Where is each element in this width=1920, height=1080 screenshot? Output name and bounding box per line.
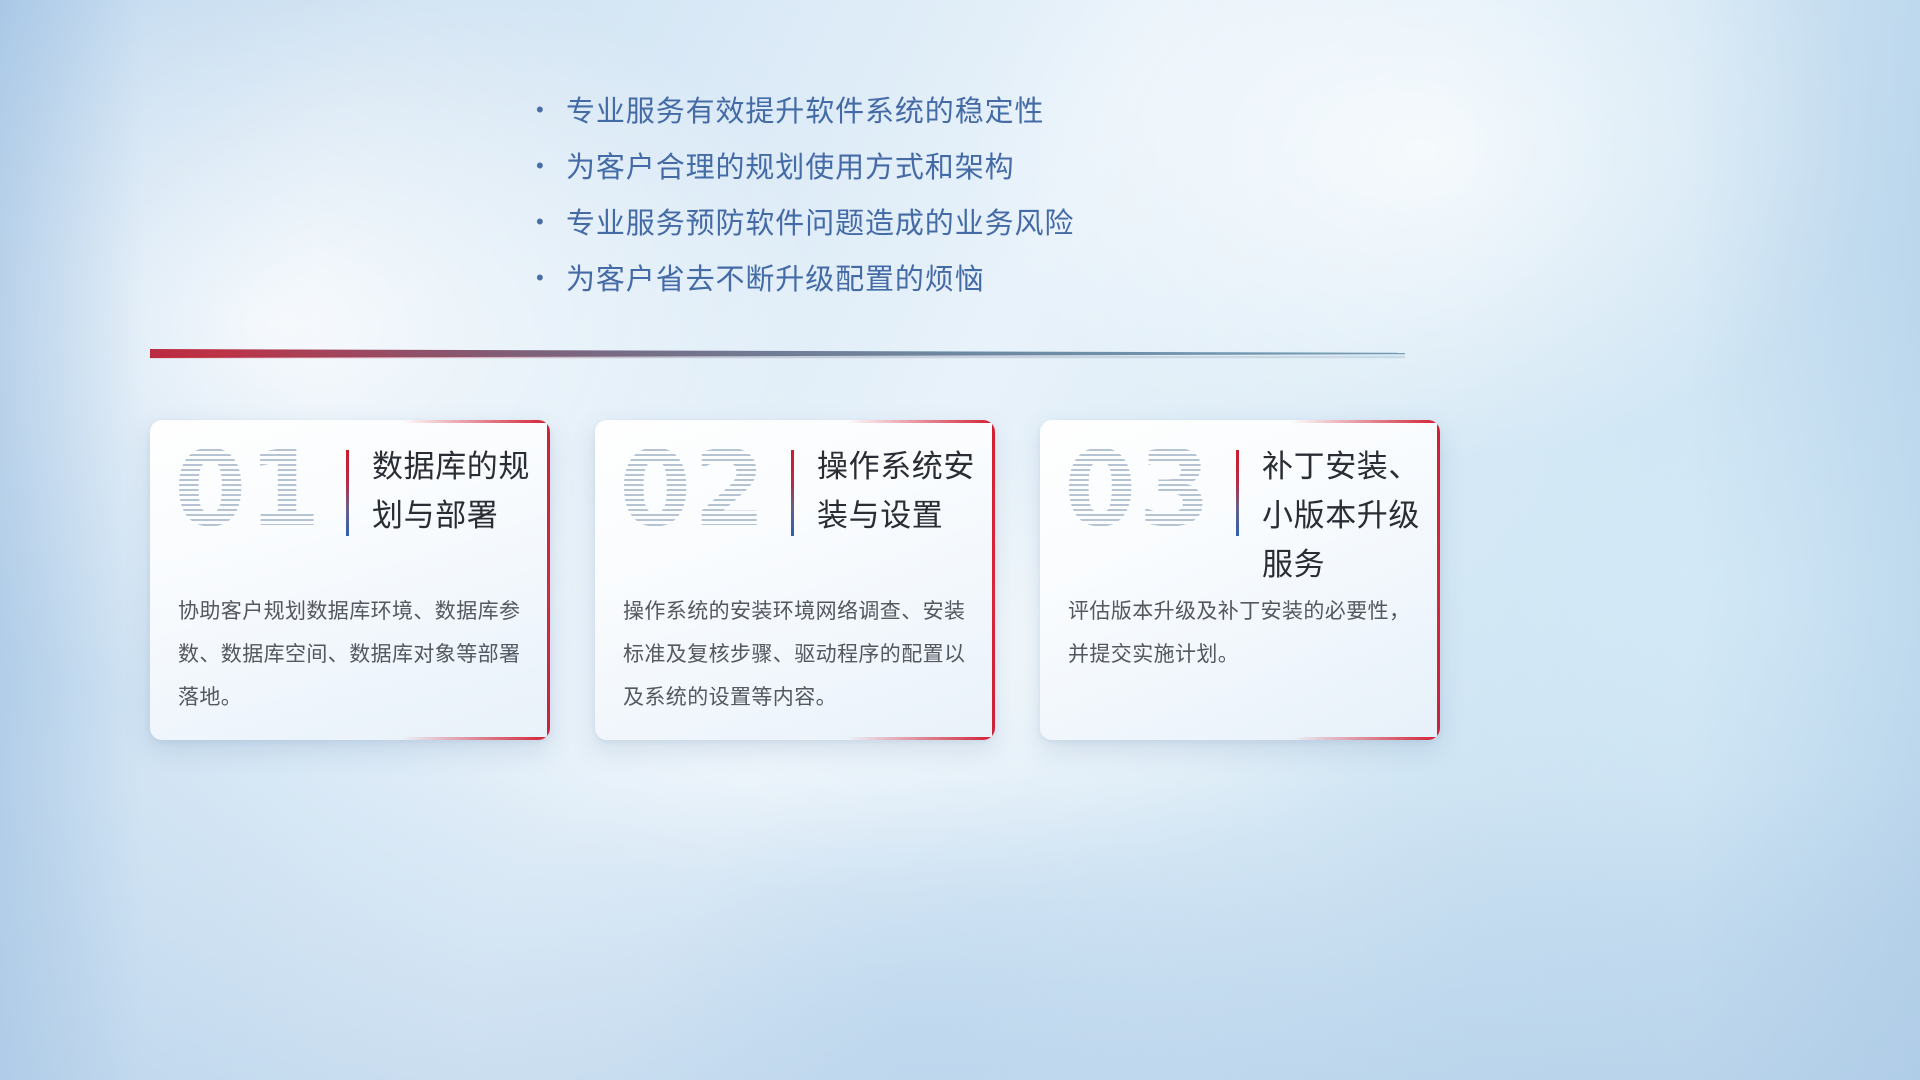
card-number-watermark: 02	[619, 434, 768, 544]
bullet-item-1: • 专业服务有效提升软件系统的稳定性	[536, 86, 1436, 138]
card-title: 补丁安装、小版本升级服务	[1262, 442, 1432, 589]
slide-root: • 专业服务有效提升软件系统的稳定性 • 为客户合理的规划使用方式和架构 • 专…	[0, 0, 1920, 1080]
bullet-list: • 专业服务有效提升软件系统的稳定性 • 为客户合理的规划使用方式和架构 • 专…	[536, 86, 1436, 310]
card-title-rule	[791, 450, 794, 536]
bullet-label: 为客户省去不断升级配置的烦恼	[566, 254, 985, 306]
card-title-rule	[1236, 450, 1239, 536]
bullet-label: 为客户合理的规划使用方式和架构	[566, 142, 1015, 194]
card-header: 01 数据库的规划与部署	[150, 420, 550, 570]
card-title-rule	[346, 450, 349, 536]
background-bottom-band	[0, 780, 1920, 1080]
card-red-edge-bottom	[1292, 737, 1440, 740]
bullet-item-4: • 为客户省去不断升级配置的烦恼	[536, 254, 1436, 306]
background-wash-right	[1460, 0, 1920, 1080]
card-red-edge-bottom	[847, 737, 995, 740]
bullet-dot-icon: •	[536, 99, 566, 121]
card-description: 操作系统的安装环境网络调查、安装标准及复核步骤、驱动程序的配置以及系统的设置等内…	[623, 590, 971, 719]
card-header: 02 操作系统安装与设置	[595, 420, 995, 570]
divider-hairline	[150, 356, 1405, 358]
bullet-item-2: • 为客户合理的规划使用方式和架构	[536, 142, 1436, 194]
bullet-dot-icon: •	[536, 267, 566, 289]
card-header: 03 补丁安装、小版本升级服务	[1040, 420, 1440, 570]
card-red-edge-bottom	[402, 737, 550, 740]
service-card[interactable]: 02 操作系统安装与设置 操作系统的安装环境网络调查、安装标准及复核步骤、驱动程…	[595, 420, 995, 740]
card-number-watermark: 01	[174, 434, 323, 544]
card-title: 操作系统安装与设置	[817, 442, 987, 540]
bullet-label: 专业服务有效提升软件系统的稳定性	[566, 86, 1044, 138]
card-number-watermark: 03	[1064, 434, 1213, 544]
bullet-dot-icon: •	[536, 211, 566, 233]
bullet-label: 专业服务预防软件问题造成的业务风险	[566, 198, 1074, 250]
card-description: 协助客户规划数据库环境、数据库参数、数据库空间、数据库对象等部署落地。	[178, 590, 526, 719]
service-card-list: 01 数据库的规划与部署 协助客户规划数据库环境、数据库参数、数据库空间、数据库…	[150, 420, 1440, 740]
card-description: 评估版本升级及补丁安装的必要性，并提交实施计划。	[1068, 590, 1416, 676]
section-divider	[150, 344, 1405, 364]
bullet-dot-icon: •	[536, 155, 566, 177]
card-title: 数据库的规划与部署	[372, 442, 542, 540]
bullet-item-3: • 专业服务预防软件问题造成的业务风险	[536, 198, 1436, 250]
service-card[interactable]: 03 补丁安装、小版本升级服务 评估版本升级及补丁安装的必要性，并提交实施计划。	[1040, 420, 1440, 740]
service-card[interactable]: 01 数据库的规划与部署 协助客户规划数据库环境、数据库参数、数据库空间、数据库…	[150, 420, 550, 740]
